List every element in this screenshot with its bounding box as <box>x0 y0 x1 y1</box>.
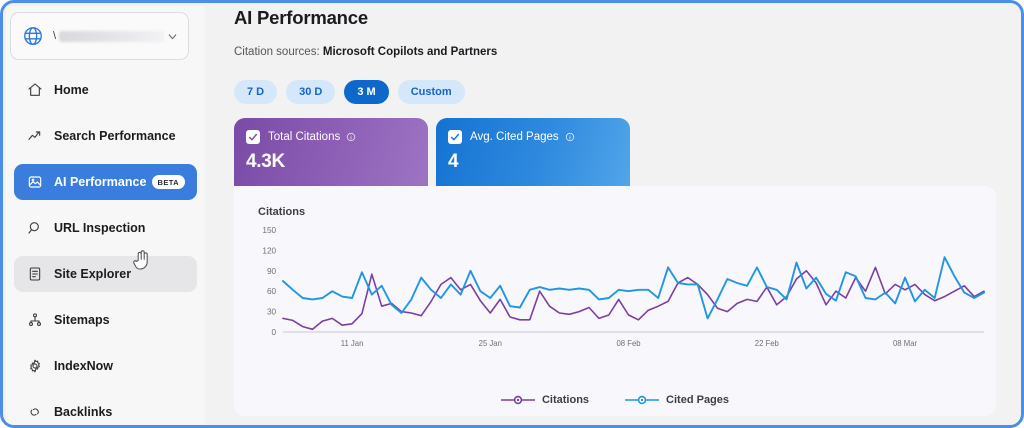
sidebar-item-label: Site Explorer <box>54 267 131 281</box>
y-axis-tick: 120 <box>262 245 276 255</box>
sidebar-item-sitemaps[interactable]: Sitemaps <box>14 302 197 338</box>
legend-item-cited-pages[interactable]: Cited Pages <box>625 394 729 406</box>
checkbox-checked-icon[interactable] <box>246 130 260 144</box>
citation-sources: Citation sources: Microsoft Copilots and… <box>234 46 497 58</box>
sidebar-item-site-explorer[interactable]: Site Explorer <box>14 256 197 292</box>
sidebar-item-indexnow[interactable]: IndexNow <box>14 348 197 384</box>
metric-card-label: Avg. Cited Pages <box>470 131 559 143</box>
legend-label: Cited Pages <box>666 394 729 406</box>
sidebar-item-url-inspection[interactable]: URL Inspection <box>14 210 197 246</box>
citation-sources-label: Citation sources: <box>234 46 320 58</box>
y-axis-tick: 90 <box>267 266 276 276</box>
citations-line-chart[interactable]: 030609012015011 Jan25 Jan08 Feb22 Feb08 … <box>250 224 986 352</box>
metric-card-header: Avg. Cited Pages <box>448 130 616 144</box>
sidebar-item-label: URL Inspection <box>54 221 145 235</box>
trend-up-icon <box>26 128 43 145</box>
x-axis-tick: 08 Mar <box>893 339 917 348</box>
sidebar-item-label: Sitemaps <box>54 313 110 327</box>
sidebar-item-backlinks[interactable]: Backlinks <box>14 394 197 428</box>
page-title: AI Performance <box>234 7 368 29</box>
hand-pointer-cursor <box>132 250 152 272</box>
y-axis-tick: 60 <box>267 286 276 296</box>
date-range-tabs: 7 D 30 D 3 M Custom <box>234 80 465 104</box>
status-badge: BETA <box>152 175 185 189</box>
sidebar-item-ai-performance[interactable]: AI Performance BETA <box>14 164 197 200</box>
sidebar: \ Home Search Performance <box>6 6 205 428</box>
site-selector[interactable]: \ <box>10 12 189 60</box>
sidebar-item-label: Home <box>54 83 89 97</box>
sidebar-item-label: Search Performance <box>54 129 176 143</box>
globe-icon <box>20 23 46 49</box>
legend-label: Citations <box>542 394 589 406</box>
y-axis-tick: 0 <box>272 327 277 337</box>
range-pill-30d[interactable]: 30 D <box>286 80 335 104</box>
site-selector-value: \ <box>53 29 165 44</box>
redacted-site-name <box>59 31 165 42</box>
metric-card-value: 4.3K <box>246 151 414 173</box>
image-sparkle-icon <box>26 174 43 191</box>
document-list-icon <box>26 266 43 283</box>
range-pill-custom[interactable]: Custom <box>398 80 465 104</box>
search-icon <box>26 220 43 237</box>
info-icon[interactable] <box>346 132 356 142</box>
sidebar-item-label: IndexNow <box>54 359 113 373</box>
x-axis-tick: 22 Feb <box>755 339 780 348</box>
y-axis-tick: 150 <box>262 225 276 235</box>
main-content: AI Performance Citation sources: Microso… <box>205 6 1018 422</box>
info-icon[interactable] <box>565 132 575 142</box>
hierarchy-icon <box>26 312 43 329</box>
app-window: \ Home Search Performance <box>0 0 1024 428</box>
gear-icon <box>26 358 43 375</box>
range-pill-3m[interactable]: 3 M <box>344 80 388 104</box>
chart-panel: Citations 030609012015011 Jan25 Jan08 Fe… <box>234 186 996 416</box>
chart-legend: Citations Cited Pages <box>234 394 996 406</box>
home-icon <box>26 82 43 99</box>
sidebar-item-label: AI Performance <box>54 175 146 189</box>
metric-card-avg-cited-pages[interactable]: Avg. Cited Pages 4 <box>436 118 630 186</box>
x-axis-tick: 11 Jan <box>341 339 364 348</box>
sidebar-item-label: Backlinks <box>54 405 112 419</box>
chevron-down-icon[interactable] <box>165 29 179 43</box>
metric-card-label: Total Citations <box>268 131 340 143</box>
link-icon <box>26 404 43 421</box>
x-axis-tick: 25 Jan <box>479 339 502 348</box>
chart-y-axis-title: Citations <box>258 206 305 218</box>
chart-series-cited-pages <box>283 257 984 318</box>
sidebar-item-home[interactable]: Home <box>14 72 197 108</box>
x-axis-tick: 08 Feb <box>617 339 642 348</box>
metric-card-header: Total Citations <box>246 130 414 144</box>
metric-card-value: 4 <box>448 151 616 173</box>
sidebar-nav: Home Search Performance AI Performance B… <box>6 72 205 428</box>
sidebar-item-search-performance[interactable]: Search Performance <box>14 118 197 154</box>
checkbox-checked-icon[interactable] <box>448 130 462 144</box>
y-axis-tick: 30 <box>267 306 276 316</box>
range-pill-7d[interactable]: 7 D <box>234 80 277 104</box>
citation-sources-value: Microsoft Copilots and Partners <box>323 46 497 58</box>
metric-card-total-citations[interactable]: Total Citations 4.3K <box>234 118 428 186</box>
legend-item-citations[interactable]: Citations <box>501 394 589 406</box>
